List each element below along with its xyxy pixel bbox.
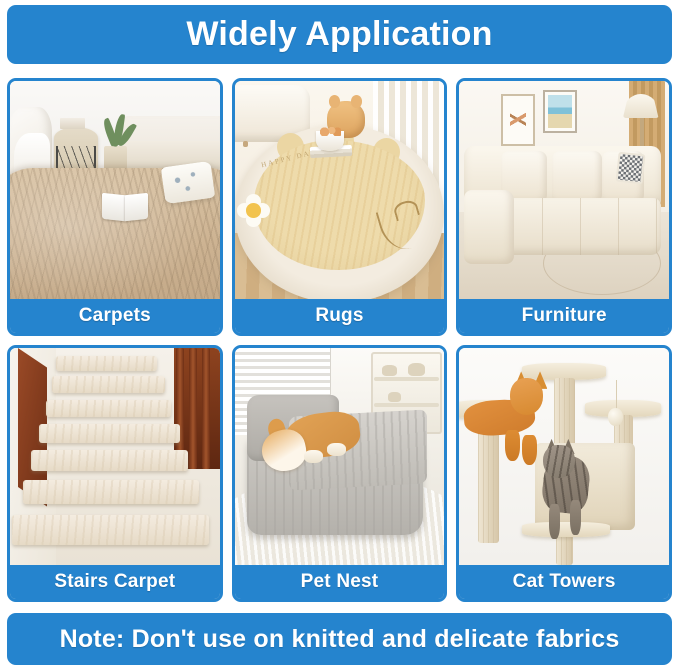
card-label-cat-towers: Cat Towers <box>459 565 669 599</box>
grey-cat-leg <box>570 500 580 535</box>
card-pet-nest[interactable]: Pet Nest <box>232 345 448 603</box>
shelf-ornament <box>382 365 396 376</box>
stair-tread <box>12 515 209 545</box>
sofa-arm <box>464 190 514 264</box>
stair-tread <box>23 480 199 504</box>
infographic-page: Widely Application <box>0 0 679 671</box>
application-cards-grid: Carpets HAPPY DAYS <box>7 78 672 602</box>
floor-pillow <box>161 160 216 204</box>
shelf <box>374 377 440 381</box>
stair-tread <box>52 376 165 393</box>
grey-cat-head <box>543 445 574 478</box>
wall-art-frame <box>501 94 535 146</box>
card-furniture[interactable]: Furniture <box>456 78 672 336</box>
card-label-pet-nest: Pet Nest <box>235 565 445 599</box>
card-rugs[interactable]: HAPPY DAYS Rugs <box>232 78 448 336</box>
bear-ear <box>329 95 340 108</box>
shelf <box>374 403 440 407</box>
daisy-cushion <box>237 194 271 227</box>
sofa-leg <box>243 141 248 147</box>
back-cushion <box>552 151 602 203</box>
stair-tread <box>56 356 157 371</box>
footer-note-text: Note: Don't use on knitted and delicate … <box>60 625 620 654</box>
card-stairs-carpet[interactable]: Stairs Carpet <box>7 345 223 603</box>
wall-art-frame <box>543 90 577 134</box>
photo-cat-towers <box>459 348 669 566</box>
footer-note-banner: Note: Don't use on knitted and delicate … <box>7 613 672 665</box>
grey-cat-leg <box>549 504 559 539</box>
tower-platform <box>522 522 610 537</box>
header-banner: Widely Application <box>7 5 672 64</box>
card-label-rugs: Rugs <box>235 299 445 333</box>
card-label-carpets: Carpets <box>10 299 220 333</box>
shelf-ornament <box>408 363 425 375</box>
stair-tread <box>39 424 179 444</box>
photo-pet-nest <box>235 348 445 566</box>
hanging-toy-ball <box>608 408 623 425</box>
checkered-pillow <box>615 151 645 184</box>
card-cat-towers[interactable]: Cat Towers <box>456 345 672 603</box>
photo-stairs-carpet <box>10 348 220 566</box>
corgi-paw <box>304 450 323 463</box>
corgi-paw <box>327 443 346 456</box>
orange-cat-leg <box>522 435 537 465</box>
toy-string <box>616 380 617 410</box>
card-label-furniture: Furniture <box>459 299 669 333</box>
stair-tread <box>46 400 172 417</box>
open-book <box>102 194 148 220</box>
snack-bowl <box>316 131 343 151</box>
card-label-stairs-carpet: Stairs Carpet <box>10 565 220 599</box>
photo-carpets <box>10 81 220 299</box>
card-carpets[interactable]: Carpets <box>7 78 223 336</box>
orange-cat-head <box>510 378 544 415</box>
orange-cat-leg <box>505 430 520 460</box>
books-on-table <box>60 118 85 129</box>
bear-ear <box>351 95 362 108</box>
tower-post <box>554 378 575 452</box>
photo-furniture <box>459 81 669 299</box>
photo-rugs: HAPPY DAYS <box>235 81 445 299</box>
baluster <box>189 348 196 470</box>
page-title: Widely Application <box>186 15 492 54</box>
stair-tread <box>31 450 188 472</box>
baluster <box>202 348 209 470</box>
shelf-ornament <box>388 392 401 402</box>
tower-post <box>478 417 499 543</box>
